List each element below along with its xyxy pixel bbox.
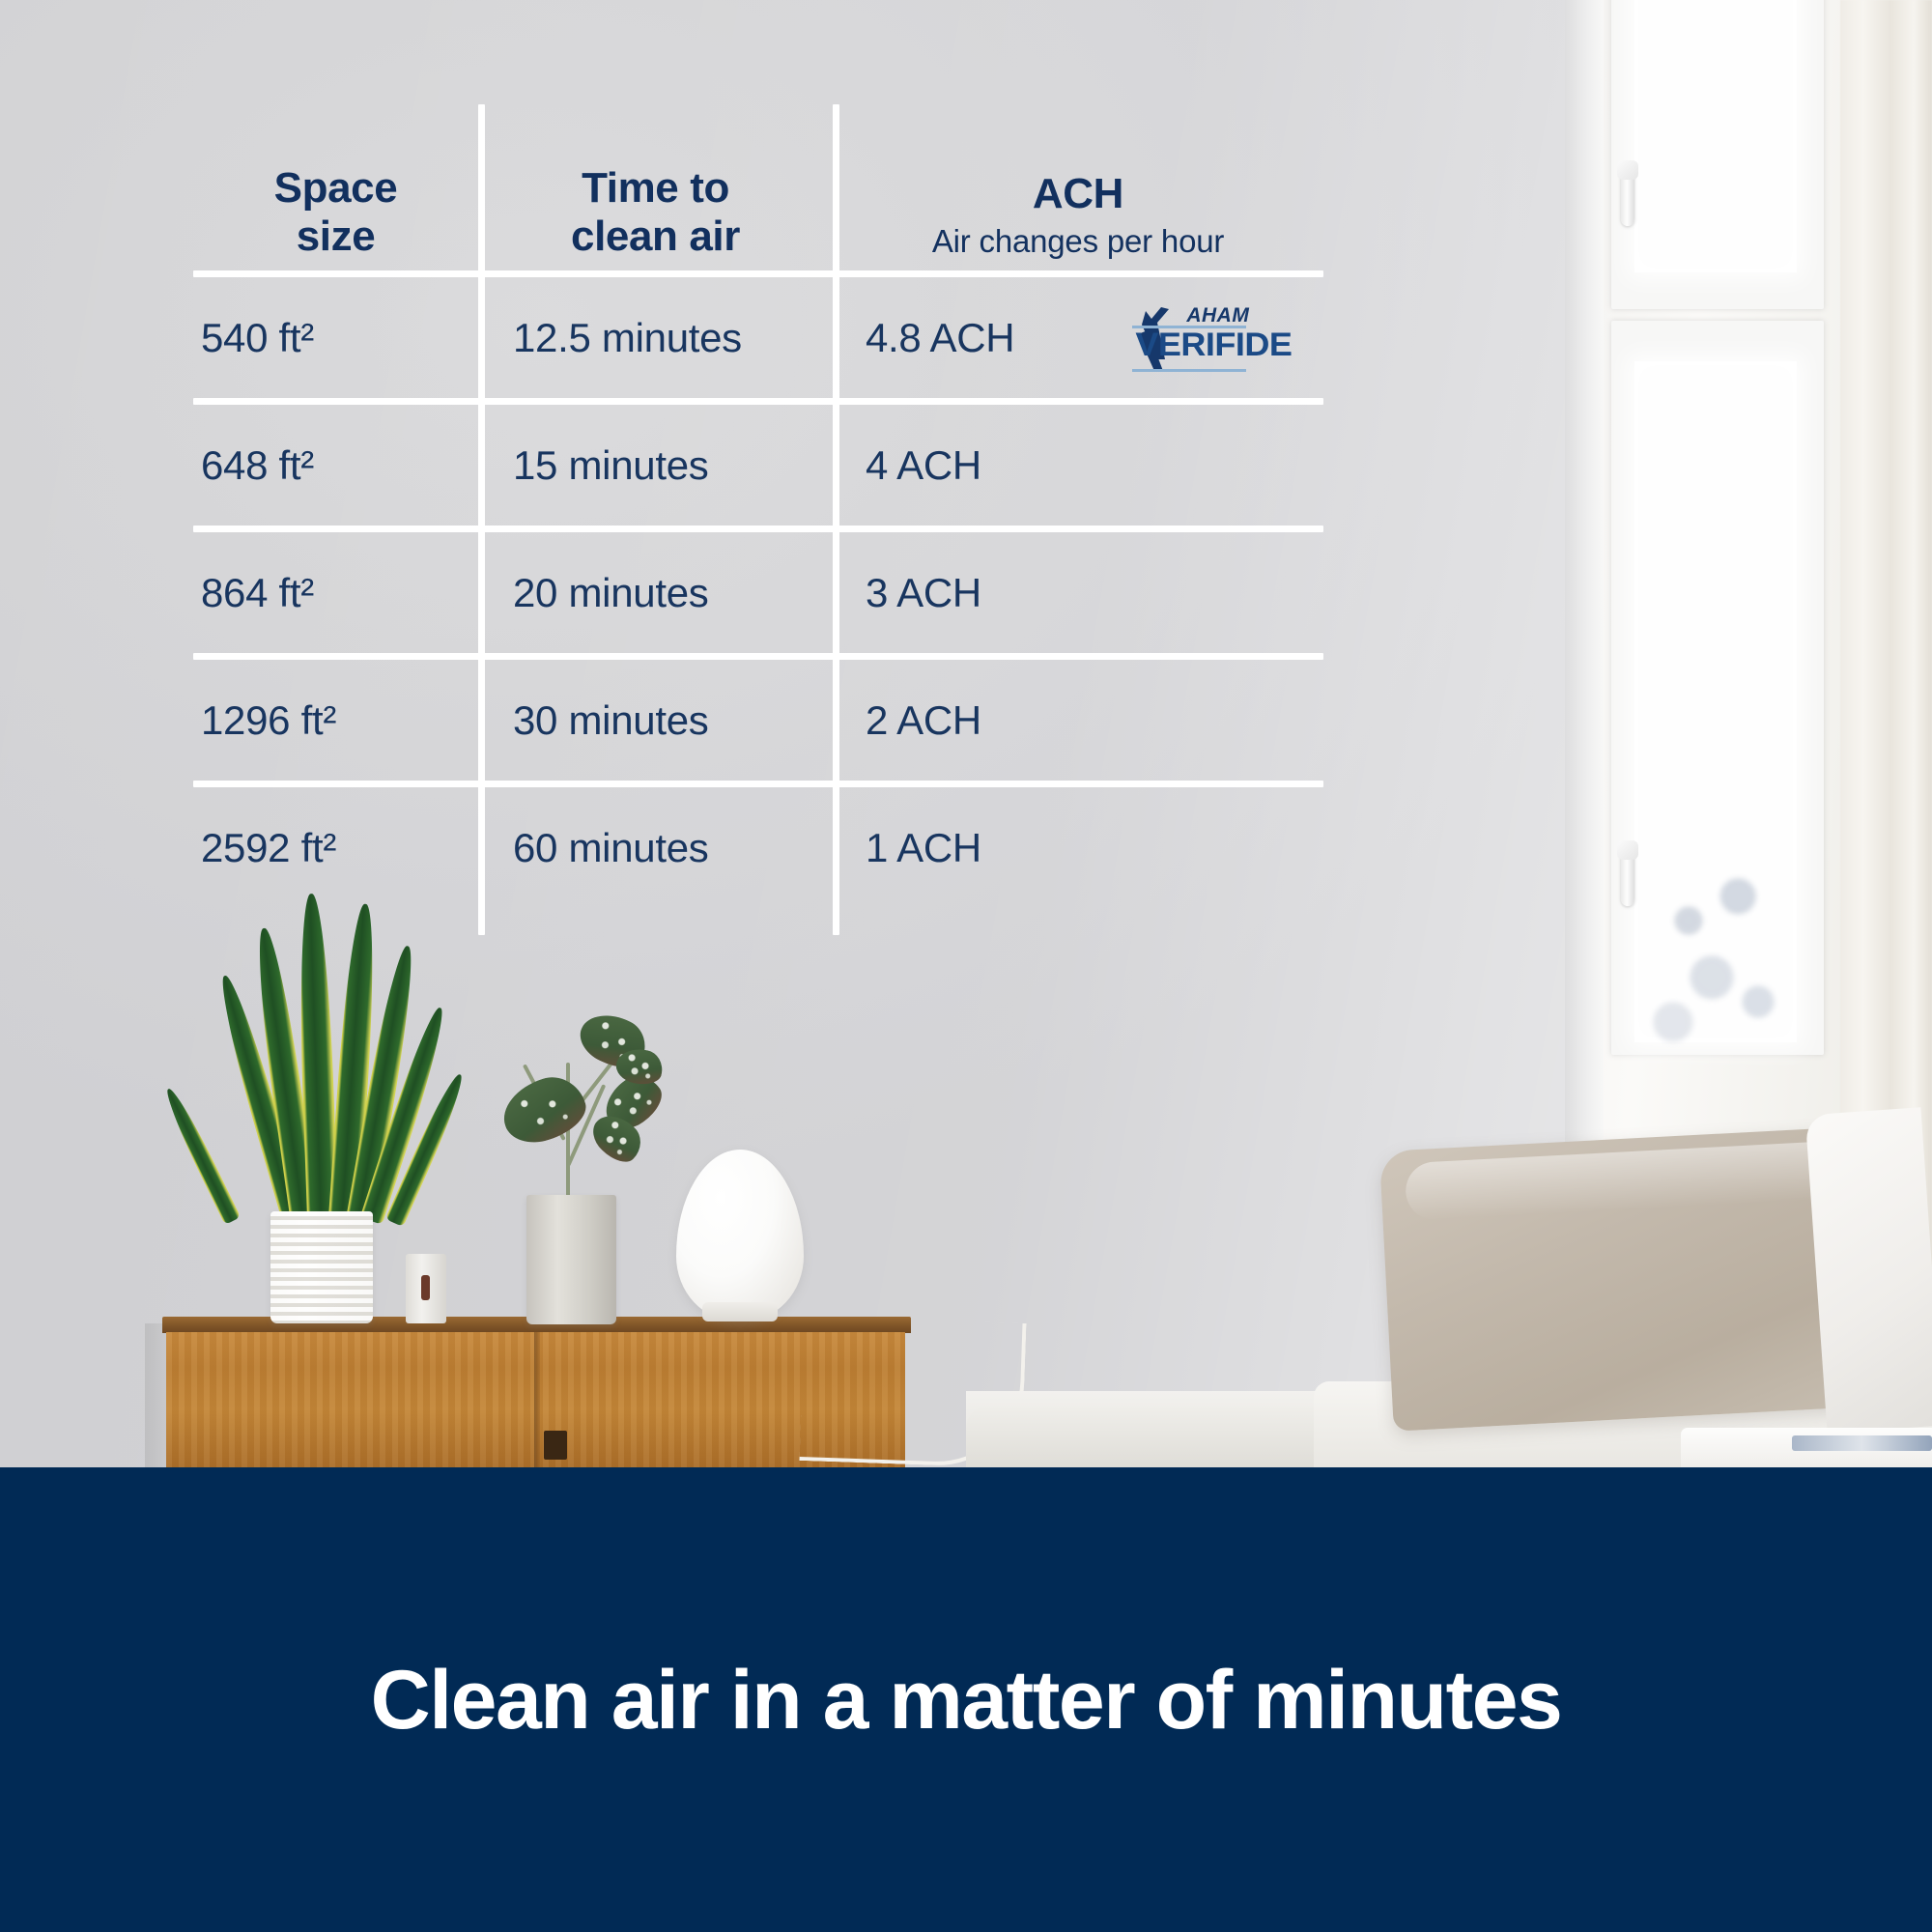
- value-time-to-clean-air: 30 minutes: [513, 697, 708, 744]
- header-cell-time-to-clean-air: Time to clean air: [478, 104, 833, 267]
- value-ach: 4 ACH: [866, 442, 981, 489]
- row-divider-1: [193, 398, 1323, 405]
- cell-space-size: 1296 ft²: [193, 660, 478, 781]
- cell-space-size: 648 ft²: [193, 405, 478, 526]
- aham-wordmark: AHAM: [1186, 304, 1249, 327]
- row-divider-0: [193, 270, 1323, 277]
- value-space-size: 2592 ft²: [201, 825, 336, 871]
- row-divider-4: [193, 781, 1323, 787]
- header-time-line2: clean air: [571, 213, 740, 261]
- value-time-to-clean-air: 12.5 minutes: [513, 315, 742, 361]
- row-divider-3: [193, 653, 1323, 660]
- cell-space-size: 2592 ft²: [193, 787, 478, 908]
- cell-ach: 4.8 ACH AHAM VERIFIDE: [833, 277, 1323, 398]
- header-ach-subtitle: Air changes per hour: [932, 222, 1224, 261]
- value-space-size: 864 ft²: [201, 570, 314, 616]
- verifide-wordmark: VERIFIDE: [1136, 327, 1293, 364]
- table-row: 1296 ft² 30 minutes 2 ACH: [193, 660, 1323, 781]
- cell-ach: 1 ACH: [833, 787, 1323, 908]
- begonia-pot: [526, 1195, 616, 1324]
- cell-time-to-clean-air: 60 minutes: [478, 787, 833, 908]
- aham-verifide-badge: AHAM VERIFIDE: [1128, 301, 1249, 375]
- header-ach-title: ACH: [1033, 170, 1123, 218]
- white-throw-blanket: [1805, 1107, 1932, 1434]
- book-on-table: [1792, 1435, 1932, 1451]
- value-ach: 4.8 ACH: [866, 315, 1014, 361]
- cell-space-size: 540 ft²: [193, 277, 478, 398]
- value-time-to-clean-air: 60 minutes: [513, 825, 708, 871]
- table-row: 648 ft² 15 minutes 4 ACH: [193, 405, 1323, 526]
- header-time-line1: Time to: [582, 164, 729, 213]
- row-divider-2: [193, 526, 1323, 532]
- bottom-banner: Clean air in a matter of minutes: [0, 1467, 1932, 1932]
- header-space-size-line2: size: [297, 213, 376, 261]
- value-time-to-clean-air: 15 minutes: [513, 442, 708, 489]
- value-time-to-clean-air: 20 minutes: [513, 570, 708, 616]
- header-cell-space-size: Space size: [193, 104, 478, 267]
- value-space-size: 540 ft²: [201, 315, 314, 361]
- cell-ach: 2 ACH: [833, 660, 1323, 781]
- cell-time-to-clean-air: 20 minutes: [478, 532, 833, 653]
- aham-rule-bottom: [1132, 369, 1246, 372]
- table-row: 2592 ft² 60 minutes 1 ACH: [193, 787, 1323, 908]
- header-space-size-line1: Space: [274, 164, 398, 213]
- cell-time-to-clean-air: 30 minutes: [478, 660, 833, 781]
- cell-time-to-clean-air: 15 minutes: [478, 405, 833, 526]
- value-space-size: 1296 ft²: [201, 697, 336, 744]
- snake-plant-pot: [270, 1211, 373, 1323]
- sideboard-door-gap: [534, 1332, 540, 1473]
- small-glass-object: [406, 1254, 446, 1323]
- cell-ach: 3 ACH: [833, 532, 1323, 653]
- table-header-row: Space size Time to clean air ACH Air cha…: [193, 104, 1323, 267]
- cell-space-size: 864 ft²: [193, 532, 478, 653]
- cell-ach: 4 ACH: [833, 405, 1323, 526]
- spec-table-overlay: Space size Time to clean air ACH Air cha…: [0, 0, 1932, 966]
- value-ach: 3 ACH: [866, 570, 981, 616]
- cell-time-to-clean-air: 12.5 minutes: [478, 277, 833, 398]
- value-ach: 2 ACH: [866, 697, 981, 744]
- value-ach: 1 ACH: [866, 825, 981, 871]
- sideboard-knob: [544, 1431, 567, 1460]
- header-cell-ach: ACH Air changes per hour: [833, 104, 1323, 267]
- egg-lamp-base: [702, 1302, 778, 1321]
- table-row: 540 ft² 12.5 minutes 4.8 ACH AHAM VERIFI…: [193, 277, 1323, 398]
- table-row: 864 ft² 20 minutes 3 ACH: [193, 532, 1323, 653]
- value-space-size: 648 ft²: [201, 442, 314, 489]
- banner-headline: Clean air in a matter of minutes: [371, 1659, 1562, 1742]
